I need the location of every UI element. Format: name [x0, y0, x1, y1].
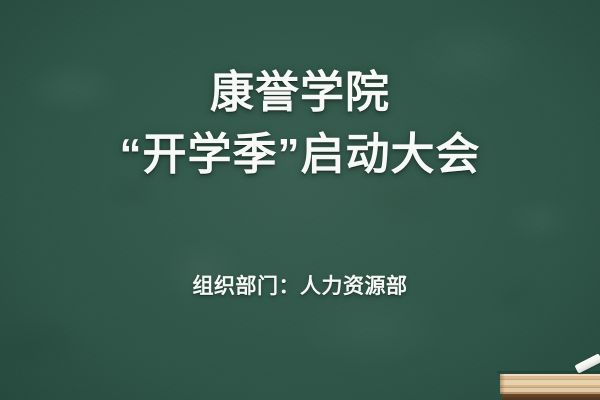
chalk-tray-endcap — [500, 374, 505, 394]
chalk-tray-body — [500, 374, 600, 394]
slide-title: 康誉学院 “开学季”启动大会 — [0, 62, 600, 186]
slide-subtitle: 组织部门：人力资源部 — [0, 272, 600, 302]
title-line-2: “开学季”启动大会 — [0, 124, 600, 186]
title-slide: 康誉学院 “开学季”启动大会 组织部门：人力资源部 — [0, 0, 600, 400]
chalk-tray-base — [502, 394, 600, 400]
title-line-1: 康誉学院 — [0, 62, 600, 124]
slide-content: 康誉学院 “开学季”启动大会 组织部门：人力资源部 — [0, 0, 600, 400]
chalk-tray — [500, 374, 600, 400]
